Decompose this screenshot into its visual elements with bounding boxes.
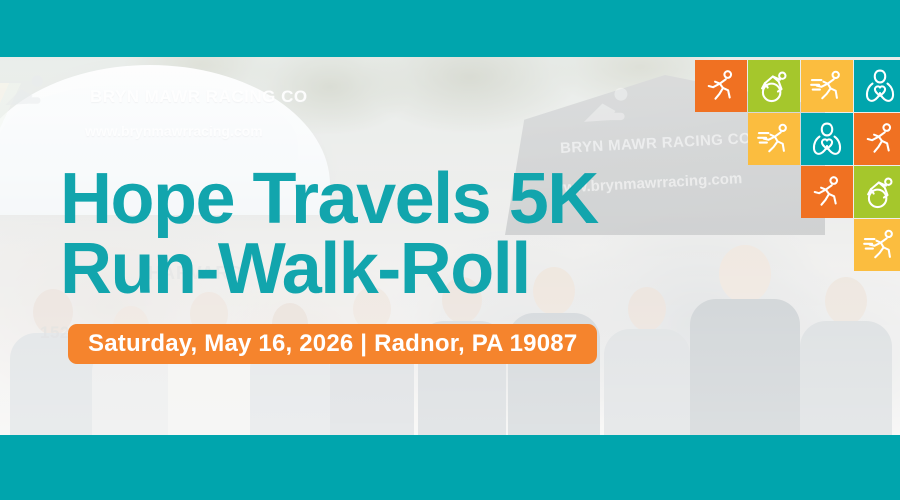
icon-tile-speed-runner [801,60,853,112]
title-line-2: Run-Walk-Roll [60,235,598,303]
bottom-teal-bar [0,435,900,500]
speed-runner-icon [861,226,899,264]
runner-icon [861,120,899,158]
page-title: Hope Travels 5K Run-Walk-Roll [60,165,598,304]
icon-tile-runner [801,166,853,218]
icon-tile-runner [695,60,747,112]
date-location-badge: Saturday, May 16, 2026 | Radnor, PA 1908… [68,324,597,364]
person-heart-icon [861,67,899,105]
icon-tile-person-heart [801,113,853,165]
title-line-1: Hope Travels 5K [60,165,598,233]
event-banner: BRYN MAWR RACING CO www.brynmawrracing.c… [0,0,900,500]
person-heart-icon [808,120,846,158]
icon-tile-speed-runner [854,219,900,271]
wheelchair-racer-icon [755,67,793,105]
icon-tile-wheelchair-racer [748,60,800,112]
speed-runner-icon [808,67,846,105]
icon-tile-speed-runner [748,113,800,165]
runner-icon [702,67,740,105]
speed-runner-icon [755,120,793,158]
icon-tile-runner [854,113,900,165]
icon-tile-wheelchair-racer [854,166,900,218]
top-teal-bar [0,0,900,57]
runner-icon [808,173,846,211]
icon-tile-person-heart [854,60,900,112]
wheelchair-racer-icon [861,173,899,211]
date-location-text: Saturday, May 16, 2026 | Radnor, PA 1908… [88,330,577,358]
icon-tile-grid [695,60,900,272]
